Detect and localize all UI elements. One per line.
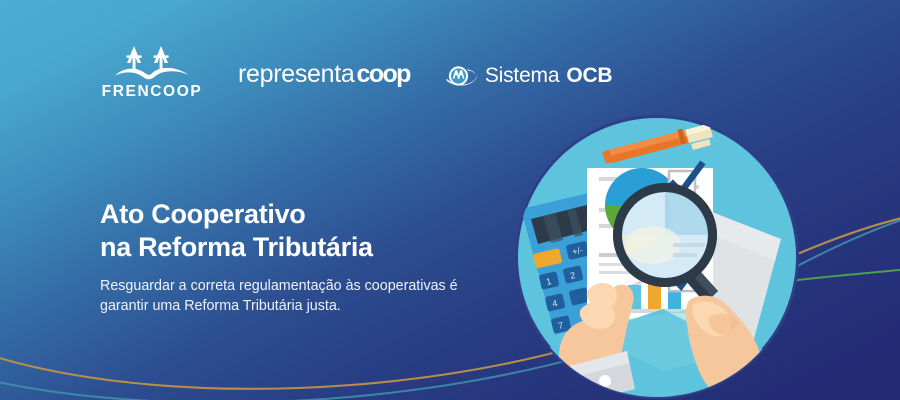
copy-block: Ato Cooperativo na Reforma Tributária Re… xyxy=(100,198,530,316)
logo-sistema-ocb[interactable]: Sistema OCB xyxy=(444,63,613,101)
headline: Ato Cooperativo na Reforma Tributária xyxy=(100,198,530,264)
frencoop-arches-wave-icon xyxy=(114,44,190,82)
logo-row: FRENCOOP representa coop Sistema xyxy=(100,44,612,101)
coop-text: coop xyxy=(357,60,410,89)
ocb-globe-swoosh-icon xyxy=(444,63,478,89)
subheadline: Resguardar a correta regulamentação às c… xyxy=(100,276,530,317)
frencoop-wordmark: FRENCOOP xyxy=(102,83,203,101)
ocb-text: OCB xyxy=(566,64,612,88)
document-audit-illustration: +/- 1 2 4 7 xyxy=(513,113,801,400)
representa-text: representa xyxy=(238,60,355,89)
logo-frencoop[interactable]: FRENCOOP xyxy=(100,44,204,101)
banner: FRENCOOP representa coop Sistema xyxy=(0,0,900,400)
sistema-text: Sistema xyxy=(485,64,559,88)
logo-representa-coop[interactable]: representa coop xyxy=(238,60,410,101)
